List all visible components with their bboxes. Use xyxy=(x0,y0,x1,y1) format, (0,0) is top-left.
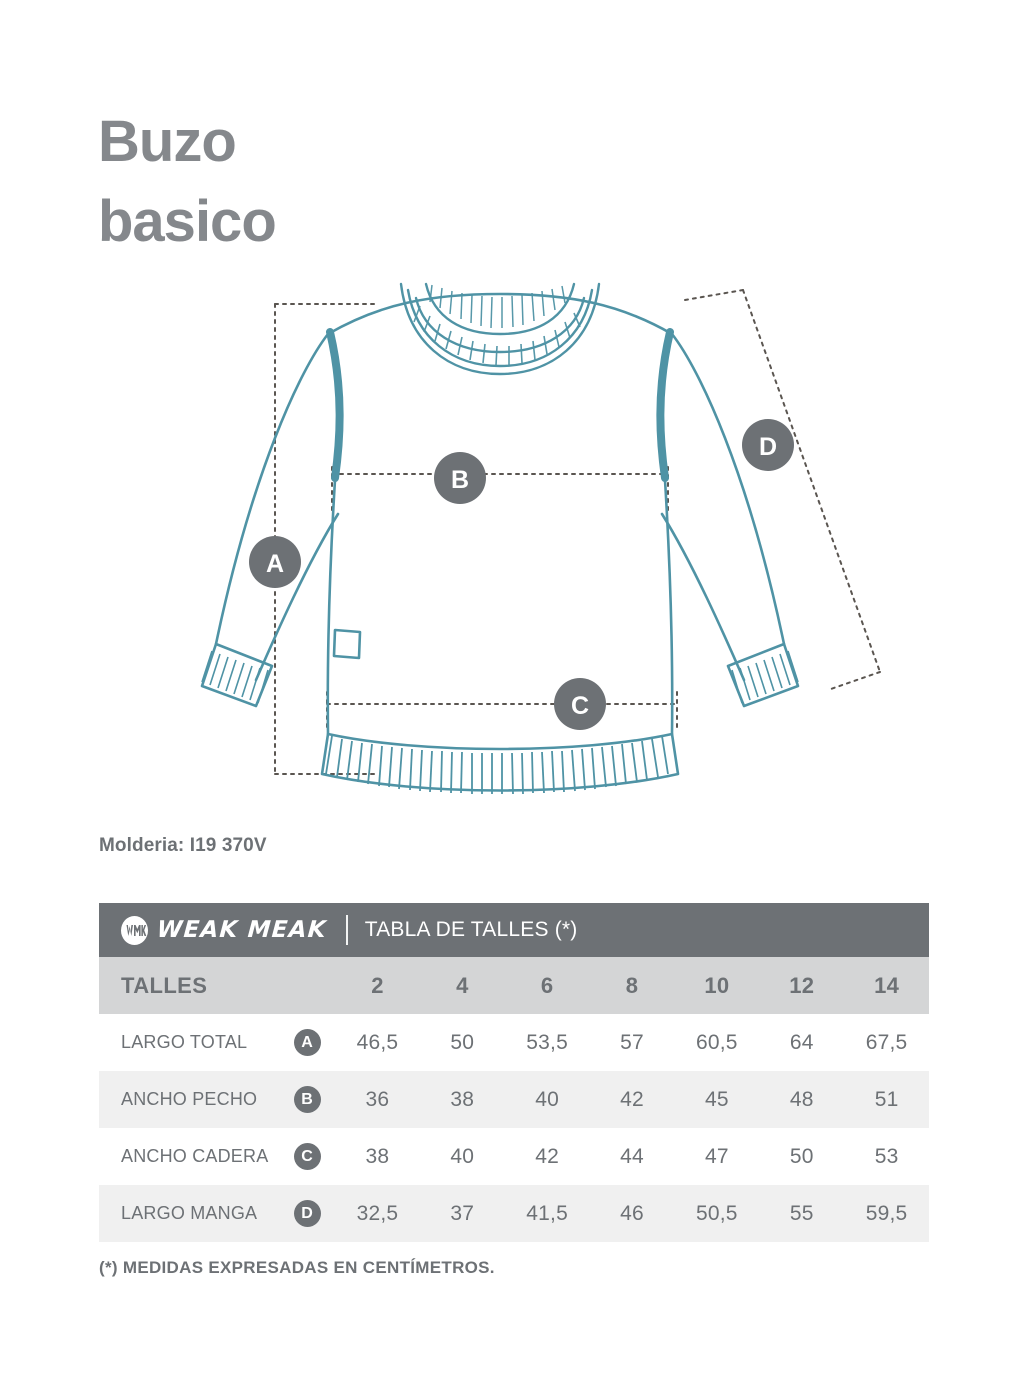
wmk-circle-logo-icon xyxy=(121,916,148,945)
row-value: 46,5 xyxy=(335,1031,420,1055)
table-row: LARGO MANGA D 32,5 37 41,5 46 50,5 55 59… xyxy=(99,1185,929,1242)
row-value: 45 xyxy=(674,1088,759,1112)
row-value: 53 xyxy=(844,1145,929,1169)
hem-rib xyxy=(326,736,668,794)
row-label: LARGO TOTAL xyxy=(99,1032,279,1053)
row-value: 67,5 xyxy=(844,1031,929,1055)
row-value: 42 xyxy=(505,1145,590,1169)
marker-d: D xyxy=(742,419,794,471)
row-value: 50 xyxy=(420,1031,505,1055)
row-value: 47 xyxy=(674,1145,759,1169)
brand-logo: WEAK MEAK xyxy=(121,916,327,945)
marker-c: C xyxy=(554,678,606,730)
measure-badge-d: D xyxy=(294,1200,321,1227)
row-value: 42 xyxy=(590,1088,675,1112)
row-value: 41,5 xyxy=(505,1202,590,1226)
size-col-3: 8 xyxy=(590,973,675,999)
row-value: 50 xyxy=(759,1145,844,1169)
row-value: 53,5 xyxy=(505,1031,590,1055)
row-badge-cell: D xyxy=(279,1200,335,1227)
row-label: ANCHO PECHO xyxy=(99,1089,279,1110)
size-col-5: 12 xyxy=(759,973,844,999)
measure-guide-c xyxy=(327,692,677,727)
row-badge-cell: B xyxy=(279,1086,335,1113)
row-value: 64 xyxy=(759,1031,844,1055)
svg-text:B: B xyxy=(451,466,469,494)
row-value: 57 xyxy=(590,1031,675,1055)
brand-name: WEAK MEAK xyxy=(156,917,328,943)
marker-b: B xyxy=(434,452,486,504)
row-label: LARGO MANGA xyxy=(99,1203,279,1224)
page-title: Buzo basico xyxy=(98,102,598,262)
svg-text:C: C xyxy=(571,692,589,720)
table-row: LARGO TOTAL A 46,5 50 53,5 57 60,5 64 67… xyxy=(99,1014,929,1071)
table-header-bar: WEAK MEAK TABLA DE TALLES (*) xyxy=(99,903,929,957)
row-value: 38 xyxy=(335,1145,420,1169)
molderia-label: Molderia: I19 370V xyxy=(99,835,267,857)
row-value: 44 xyxy=(590,1145,675,1169)
sizes-label: TALLES xyxy=(99,973,279,999)
armhole-seams xyxy=(330,332,670,478)
row-value: 55 xyxy=(759,1202,844,1226)
measure-badge-b: B xyxy=(294,1086,321,1113)
header-divider xyxy=(346,915,348,945)
row-value: 40 xyxy=(505,1088,590,1112)
row-value: 46 xyxy=(590,1202,675,1226)
row-value: 59,5 xyxy=(844,1202,929,1226)
size-col-0: 2 xyxy=(335,973,420,999)
size-col-1: 4 xyxy=(420,973,505,999)
table-row: ANCHO CADERA C 38 40 42 44 47 50 53 xyxy=(99,1128,929,1185)
marker-a: A xyxy=(249,536,301,588)
row-badge-cell: C xyxy=(279,1143,335,1170)
row-value: 50,5 xyxy=(674,1202,759,1226)
row-value: 37 xyxy=(420,1202,505,1226)
size-col-4: 10 xyxy=(674,973,759,999)
row-value: 51 xyxy=(844,1088,929,1112)
row-value: 48 xyxy=(759,1088,844,1112)
measure-badge-c: C xyxy=(294,1143,321,1170)
size-col-2: 6 xyxy=(505,973,590,999)
row-value: 38 xyxy=(420,1088,505,1112)
row-value: 40 xyxy=(420,1145,505,1169)
measure-guide-b xyxy=(332,467,668,512)
row-value: 36 xyxy=(335,1088,420,1112)
row-label: ANCHO CADERA xyxy=(99,1146,279,1167)
size-chart-page: Buzo basico xyxy=(0,0,1025,1400)
row-value: 32,5 xyxy=(335,1202,420,1226)
svg-text:D: D xyxy=(759,433,777,461)
table-row: ANCHO PECHO B 36 38 40 42 45 48 51 xyxy=(99,1071,929,1128)
footnote: (*) MEDIDAS EXPRESADAS EN CENTÍMETROS. xyxy=(99,1258,495,1278)
garment-illustration: A B C D xyxy=(180,262,920,802)
svg-text:A: A xyxy=(266,550,284,578)
row-value: 60,5 xyxy=(674,1031,759,1055)
measure-badge-a: A xyxy=(294,1029,321,1056)
size-table: WEAK MEAK TABLA DE TALLES (*) TALLES 2 4… xyxy=(99,903,929,1242)
table-sizes-row: TALLES 2 4 6 8 10 12 14 xyxy=(99,957,929,1014)
table-title: TABLA DE TALLES (*) xyxy=(365,918,578,942)
row-badge-cell: A xyxy=(279,1029,335,1056)
size-col-6: 14 xyxy=(844,973,929,999)
